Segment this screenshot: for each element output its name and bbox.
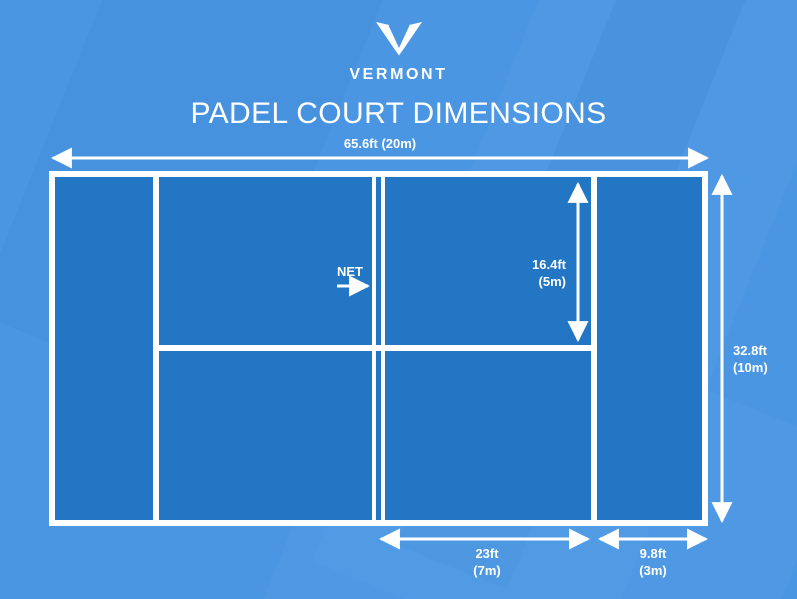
dimension-label-back-area-line1: 9.8ft (640, 546, 667, 561)
dimension-service-area: 23ft (7m) (381, 539, 588, 578)
dimension-label-service-area-line2: (7m) (473, 563, 500, 578)
page-title: PADEL COURT DIMENSIONS (190, 97, 606, 131)
dimension-label-court-length: 65.6ft (20m) (344, 136, 416, 151)
header: VERMONT PADEL COURT DIMENSIONS (0, 0, 797, 130)
dimension-label-court-width-line1: 32.8ft (733, 343, 768, 358)
dimension-court-length: 65.6ft (20m) (53, 136, 707, 158)
dimension-label-back-area-line2: (3m) (639, 563, 666, 578)
dimension-label-service-box-depth-line2: (5m) (539, 274, 566, 289)
dimension-label-court-width-line2: (10m) (733, 360, 768, 375)
brand-name: VERMONT (349, 66, 447, 84)
dimension-label-service-area-line1: 23ft (475, 546, 499, 561)
dimension-back-area: 9.8ft (3m) (600, 539, 706, 578)
dimension-label-service-box-depth-line1: 16.4ft (532, 257, 567, 272)
net-label: NET (337, 264, 363, 279)
vermont-v-logo-icon (376, 22, 422, 61)
dimension-court-width: 32.8ft (10m) (722, 176, 768, 521)
